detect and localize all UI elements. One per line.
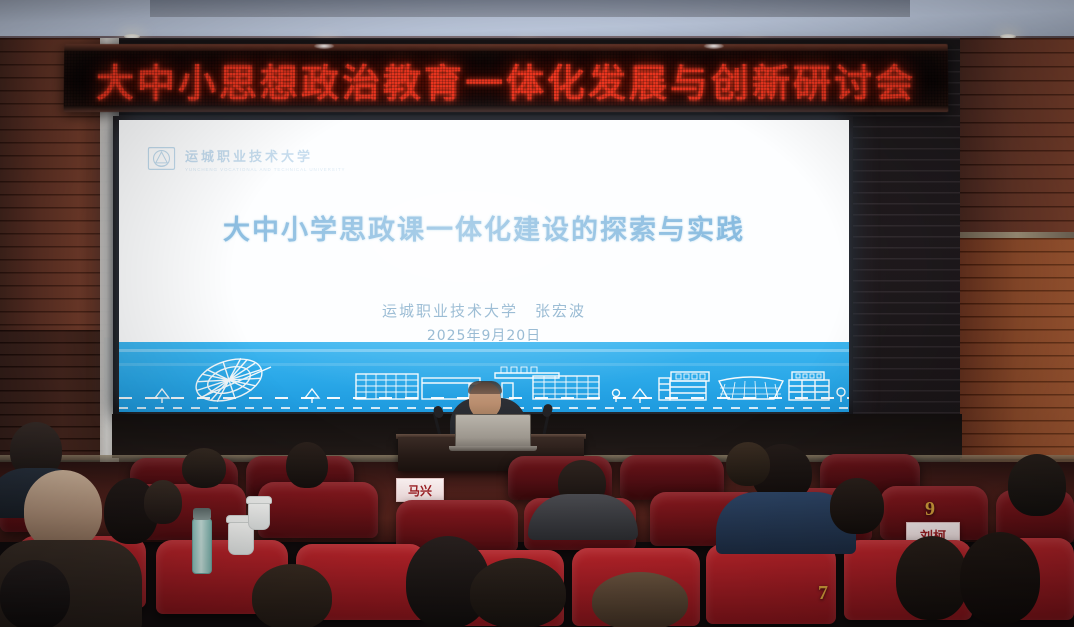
- seat-number-label: 9: [925, 498, 935, 520]
- thermos-cap: [193, 508, 211, 520]
- seat-number-label: 7: [818, 582, 828, 604]
- slide-presenter-line: 运城职业技术大学 张宏波: [119, 300, 849, 321]
- conference-hall-photo: 大中小思想政治教育一体化发展与创新研讨会 运城职业技术大学 YUNCHENG V…: [0, 0, 1074, 627]
- slide-logo-cn: 运城职业技术大学: [185, 146, 345, 165]
- attendee-head: [830, 478, 884, 534]
- led-banner-top-edge: [64, 44, 947, 51]
- slide-title: 大中小学思政课一体化建设的探索与实践: [119, 208, 849, 247]
- attendee-head: [252, 564, 332, 627]
- tea-mug-lid: [246, 496, 272, 504]
- slide-logo-en: YUNCHENG VOCATIONAL AND TECHNICAL UNIVER…: [185, 167, 345, 172]
- attendee-head: [24, 470, 102, 550]
- attendee-head: [896, 536, 968, 620]
- university-crest-icon: [147, 144, 176, 173]
- name-card-label: 马兴: [408, 482, 432, 499]
- attendee-head: [182, 448, 226, 488]
- led-banner: 大中小思想政治教育一体化发展与创新研讨会: [64, 44, 949, 112]
- seat: [706, 544, 836, 624]
- led-banner-text: 大中小思想政治教育一体化发展与创新研讨会: [64, 52, 949, 106]
- presentation-slide: 运城职业技术大学 YUNCHENG VOCATIONAL AND TECHNIC…: [119, 120, 849, 412]
- attendee-head: [144, 480, 182, 524]
- attendee-shoulders: [528, 494, 638, 540]
- attendee-head: [726, 442, 770, 486]
- seat-number: 7: [818, 582, 828, 605]
- attendee-head: [470, 558, 566, 627]
- name-card: 马兴: [396, 478, 444, 502]
- ceiling-recess: [150, 0, 910, 17]
- tea-mug: [248, 502, 270, 530]
- attendee-head: [592, 572, 688, 627]
- slide-logo: 运城职业技术大学 YUNCHENG VOCATIONAL AND TECHNIC…: [147, 144, 345, 173]
- thermos-flask: [192, 518, 212, 574]
- right-wall-wood-panel-lower: [960, 238, 1074, 468]
- presenter-hair: [468, 381, 502, 394]
- attendee-head: [286, 442, 328, 488]
- attendee-head: [0, 560, 70, 627]
- seat-number: 9: [925, 498, 935, 521]
- slide-logo-text: 运城职业技术大学 YUNCHENG VOCATIONAL AND TECHNIC…: [185, 146, 345, 172]
- led-banner-bottom-edge: [64, 106, 949, 112]
- attendee-head: [960, 532, 1040, 624]
- attendee-head: [1008, 454, 1066, 516]
- seat: [258, 482, 378, 538]
- audience-area: 马兴 9 刘柯 7: [0, 440, 1074, 627]
- right-wall-wood-panel: [960, 38, 1074, 243]
